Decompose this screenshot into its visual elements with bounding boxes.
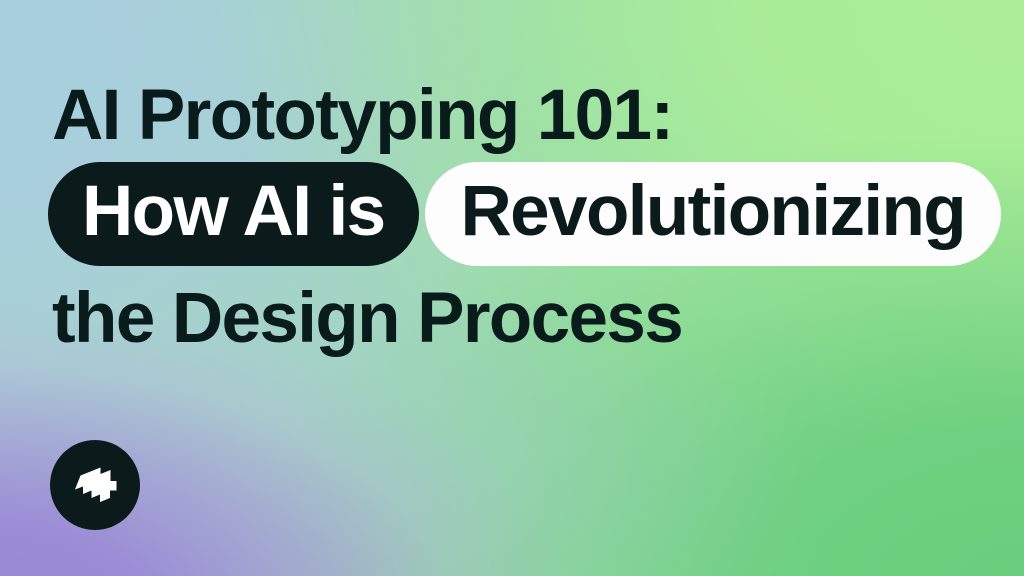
headline-line-1: AI Prototyping 101: (48, 78, 988, 152)
headline-block: AI Prototyping 101: How AI is Revolution… (48, 78, 988, 356)
headline-pill-dark: How AI is (48, 162, 419, 266)
title-card-canvas: AI Prototyping 101: How AI is Revolution… (0, 0, 1024, 576)
brand-logo-badge (50, 440, 140, 530)
headline-line-2: How AI is Revolutionizing (48, 162, 988, 266)
card-content: AI Prototyping 101: How AI is Revolution… (0, 0, 1024, 576)
lightning-bolt-icon (67, 459, 123, 511)
headline-pill-light: Revolutionizing (425, 162, 1002, 266)
headline-line-3: the Design Process (48, 280, 988, 356)
